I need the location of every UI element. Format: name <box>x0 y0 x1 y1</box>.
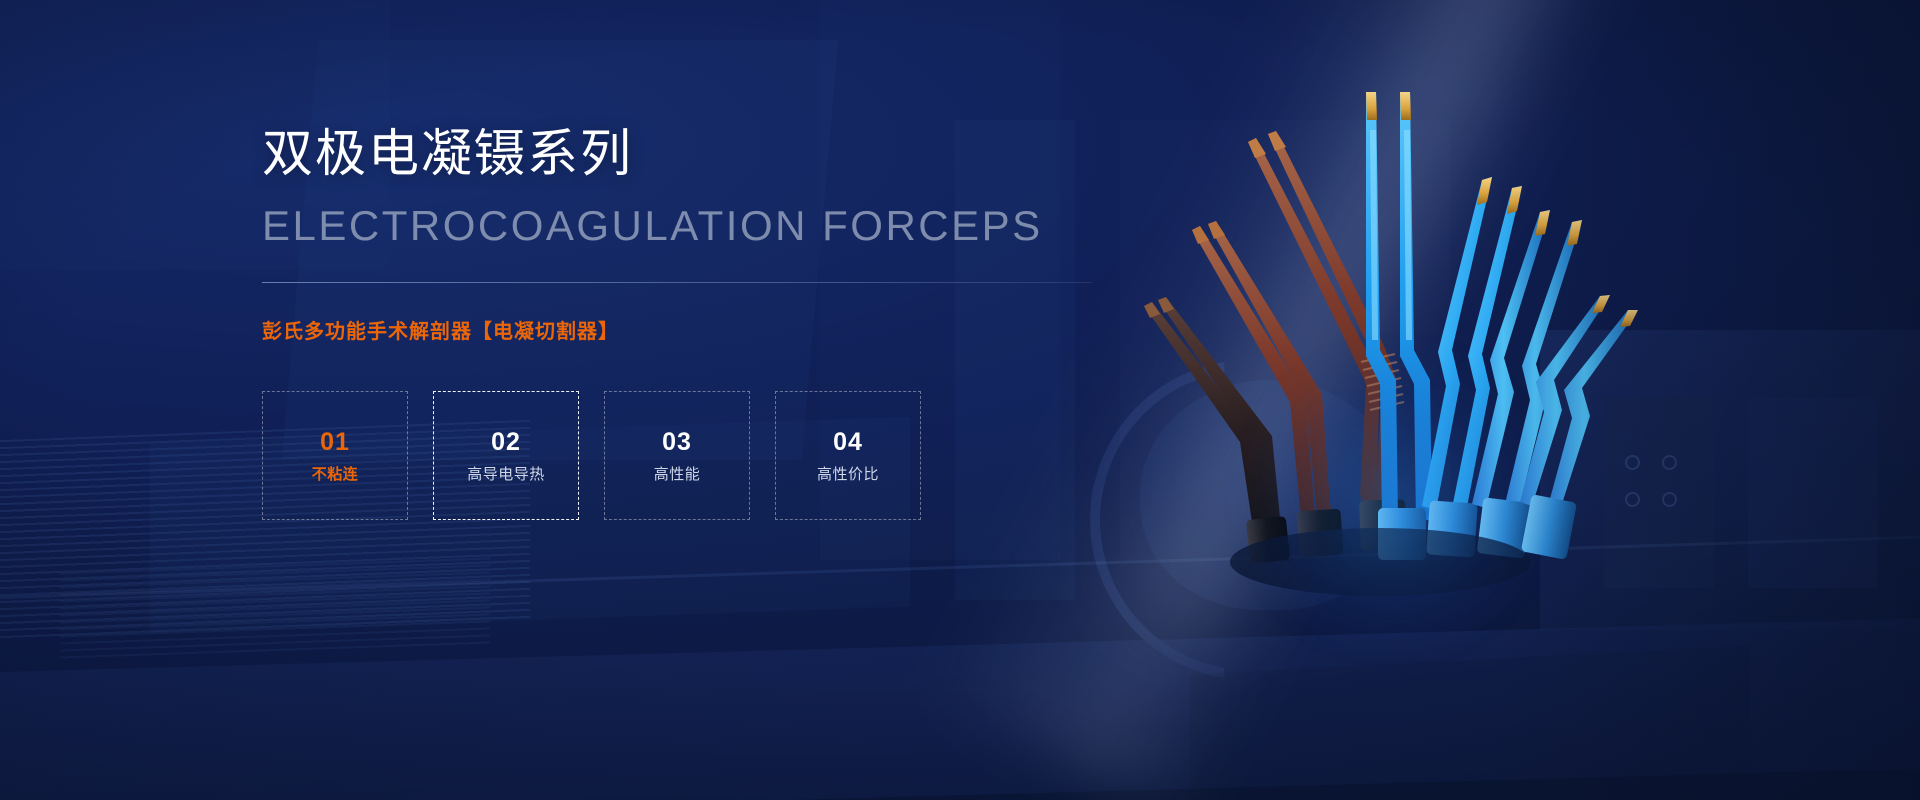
feature-card-02[interactable]: 02 高导电导热 <box>433 391 579 520</box>
feature-card-01[interactable]: 01 不粘连 <box>262 391 408 520</box>
bg-monitor-right <box>1748 398 1878 588</box>
product-banner: 双极电凝镊系列 ELECTROCOAGULATION FORCEPS 彭氏多功能… <box>0 0 1920 800</box>
banner-content: 双极电凝镊系列 ELECTROCOAGULATION FORCEPS 彭氏多功能… <box>262 128 1102 520</box>
bg-knob <box>1662 492 1677 507</box>
feature-label: 高性能 <box>654 467 701 482</box>
feature-label: 高导电导热 <box>467 467 545 482</box>
feature-card-04[interactable]: 04 高性价比 <box>775 391 921 520</box>
bg-knob <box>1662 455 1677 470</box>
feature-list: 01 不粘连 02 高导电导热 03 高性能 04 高性价比 <box>262 391 1102 520</box>
feature-number: 01 <box>320 430 350 455</box>
feature-label: 高性价比 <box>817 467 879 482</box>
headline-chinese: 双极电凝镊系列 <box>262 128 1102 179</box>
product-image-forceps <box>1080 50 1640 610</box>
feature-number: 04 <box>833 430 863 455</box>
headline-divider <box>262 282 1092 283</box>
feature-number: 02 <box>491 430 521 455</box>
feature-card-03[interactable]: 03 高性能 <box>604 391 750 520</box>
product-glow <box>1230 350 1560 650</box>
feature-label: 不粘连 <box>312 467 359 482</box>
feature-number: 03 <box>662 430 692 455</box>
subtitle-chinese: 彭氏多功能手术解剖器【电凝切割器】 <box>262 315 1102 344</box>
headline-english: ELECTROCOAGULATION FORCEPS <box>262 205 1102 247</box>
